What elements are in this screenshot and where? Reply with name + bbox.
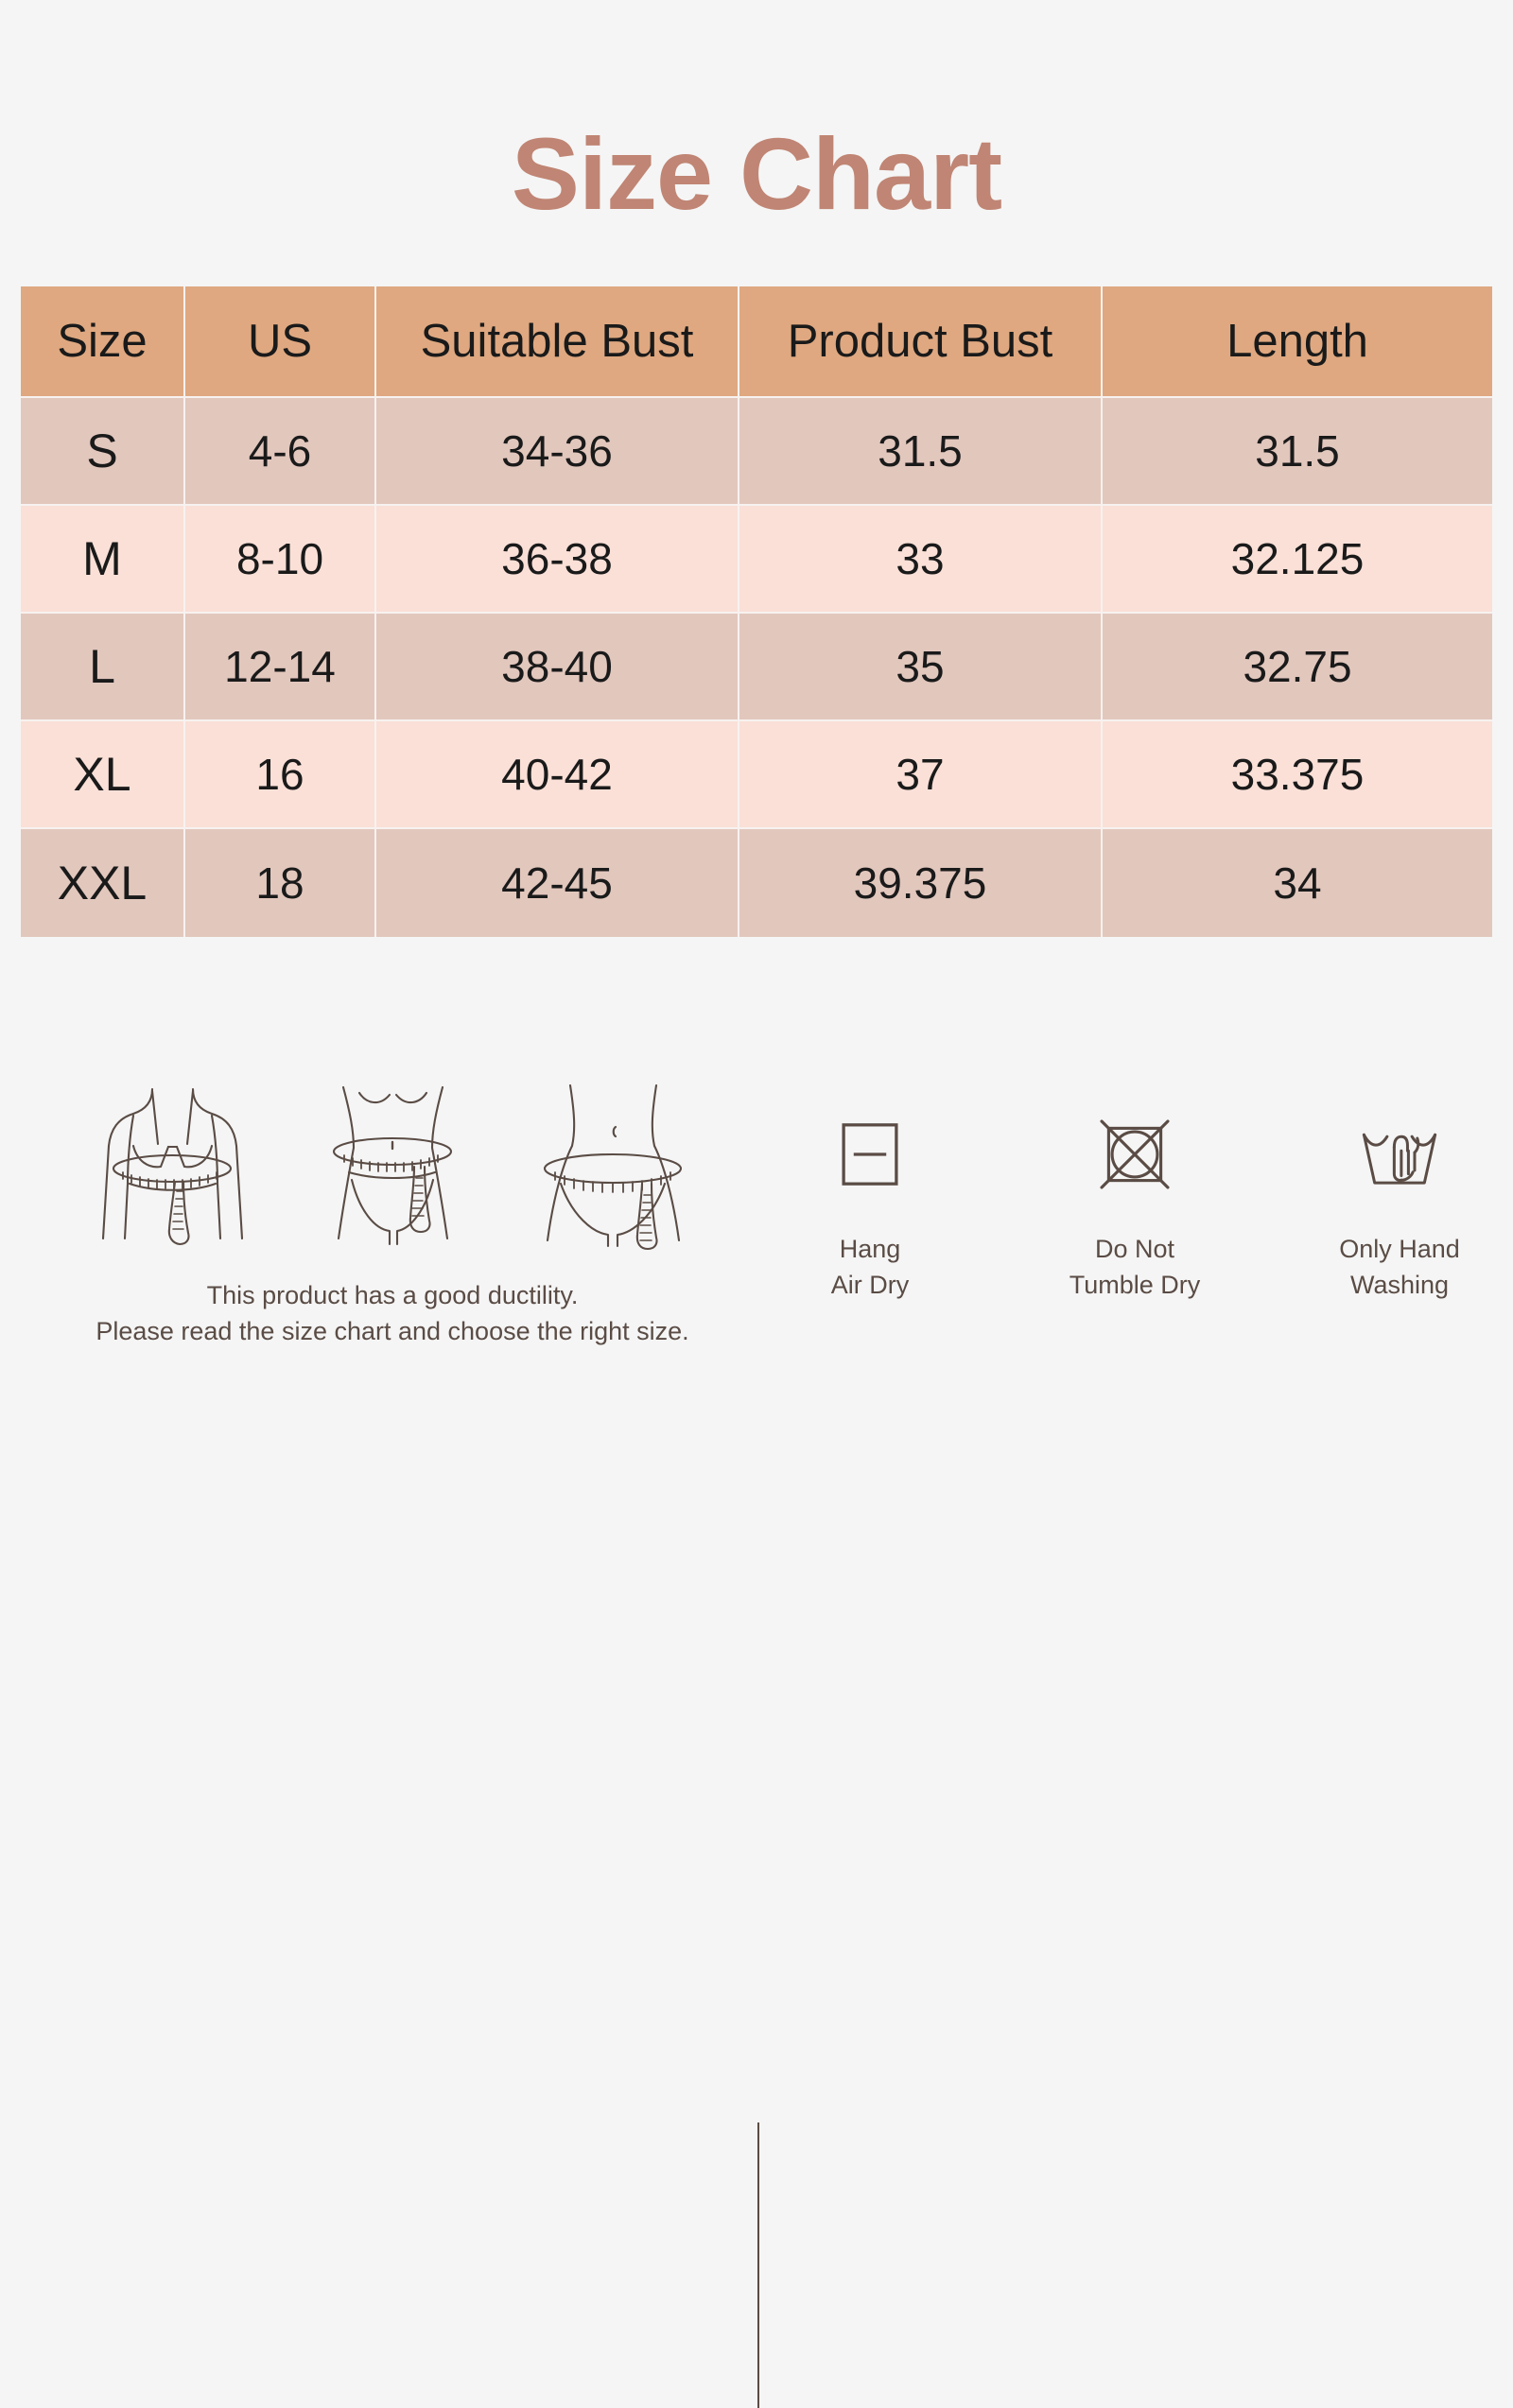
hand-wash-icon [1355, 1101, 1444, 1207]
hang-air-dry-icon [831, 1101, 909, 1207]
table-row: XXL 18 42-45 39.375 34 [21, 829, 1492, 937]
cell-product-bust: 37 [739, 721, 1103, 829]
cell-length: 33.375 [1103, 721, 1492, 829]
cell-product-bust: 33 [739, 506, 1103, 614]
cell-us: 12-14 [185, 614, 376, 721]
table-row: L 12-14 38-40 35 32.75 [21, 614, 1492, 721]
cell-length: 32.125 [1103, 506, 1492, 614]
care-label-do-not-tumble-dry: Do Not Tumble Dry [1070, 1232, 1201, 1304]
cell-product-bust: 31.5 [739, 398, 1103, 506]
hip-measure-figure [512, 1078, 715, 1253]
size-chart-table: Size US Suitable Bust Product Bust Lengt… [21, 286, 1492, 937]
bust-measure-figure [71, 1078, 274, 1253]
measurement-figures [28, 1073, 756, 1253]
waist-measure-figure [291, 1078, 495, 1253]
measurement-note-line-1: This product has a good ductility. [28, 1277, 756, 1313]
column-header-length: Length [1103, 286, 1492, 398]
care-item-hang-air-dry: Hang Air Dry [790, 1101, 950, 1304]
cell-size: S [21, 398, 185, 506]
cell-length: 34 [1103, 829, 1492, 937]
cell-us: 16 [185, 721, 376, 829]
column-header-us: US [185, 286, 376, 398]
care-instructions: Hang Air Dry Do Not Tumble Dry [756, 1049, 1513, 1304]
cell-size: M [21, 506, 185, 614]
measurement-note-line-2: Please read the size chart and choose th… [28, 1313, 756, 1349]
do-not-tumble-dry-icon [1091, 1101, 1178, 1207]
cell-suitable-bust: 34-36 [376, 398, 739, 506]
cell-length: 31.5 [1103, 398, 1492, 506]
cell-us: 8-10 [185, 506, 376, 614]
cell-suitable-bust: 36-38 [376, 506, 739, 614]
section-divider [757, 2122, 759, 2408]
cell-product-bust: 35 [739, 614, 1103, 721]
column-header-product-bust: Product Bust [739, 286, 1103, 398]
care-item-hand-wash: Only Hand Washing [1319, 1101, 1480, 1304]
cell-suitable-bust: 38-40 [376, 614, 739, 721]
page-title: Size Chart [0, 0, 1513, 225]
measurement-guide: This product has a good ductility. Pleas… [0, 1049, 756, 1350]
table-row: S 4-6 34-36 31.5 31.5 [21, 398, 1492, 506]
care-label-hand-wash: Only Hand Washing [1339, 1232, 1460, 1304]
cell-length: 32.75 [1103, 614, 1492, 721]
cell-size: L [21, 614, 185, 721]
cell-product-bust: 39.375 [739, 829, 1103, 937]
bottom-section: This product has a good ductility. Pleas… [0, 1049, 1513, 1428]
care-item-do-not-tumble-dry: Do Not Tumble Dry [1054, 1101, 1215, 1304]
table-row: M 8-10 36-38 33 32.125 [21, 506, 1492, 614]
cell-size: XXL [21, 829, 185, 937]
cell-us: 18 [185, 829, 376, 937]
cell-size: XL [21, 721, 185, 829]
column-header-size: Size [21, 286, 185, 398]
cell-us: 4-6 [185, 398, 376, 506]
care-label-hang-air-dry: Hang Air Dry [831, 1232, 910, 1304]
table-header-row: Size US Suitable Bust Product Bust Lengt… [21, 286, 1492, 398]
size-chart-table-wrapper: Size US Suitable Bust Product Bust Lengt… [21, 286, 1492, 937]
table-row: XL 16 40-42 37 33.375 [21, 721, 1492, 829]
measurement-note: This product has a good ductility. Pleas… [28, 1277, 756, 1350]
cell-suitable-bust: 40-42 [376, 721, 739, 829]
column-header-suitable-bust: Suitable Bust [376, 286, 739, 398]
cell-suitable-bust: 42-45 [376, 829, 739, 937]
